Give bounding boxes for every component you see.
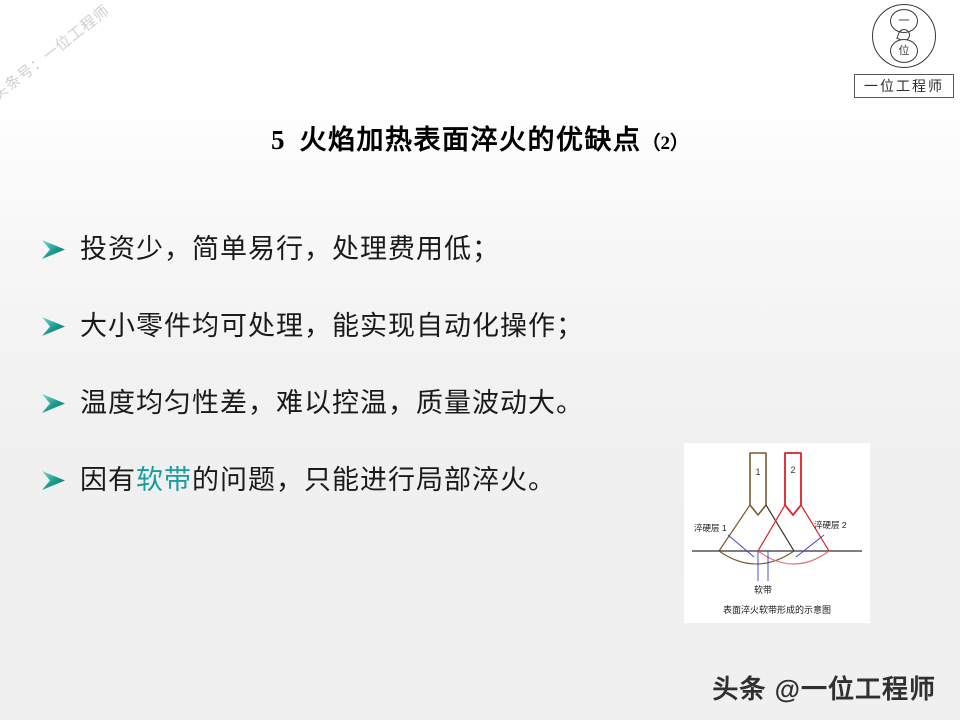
list-item-text-highlight: 软带: [136, 465, 192, 495]
right-hardened-layer-label: 淬硬层 2: [814, 520, 847, 530]
list-item: 大小零件均可处理，能实现自动化操作；: [40, 309, 730, 386]
list-item-text: 因有软带的问题，只能进行局部淬火。: [80, 463, 556, 497]
list-item-text-pre: 温度均匀性差，难以控温，质量波动大。: [80, 388, 584, 418]
logo-inner-bottom-circle-icon: 位: [890, 39, 918, 63]
list-item: 投资少，简单易行，处理费用低；: [40, 232, 730, 309]
list-item-text-pre: 大小零件均可处理，能实现自动化操作；: [80, 311, 584, 341]
soft-band-label: 软带: [754, 584, 772, 595]
list-item-text: 温度均匀性差，难以控温，质量波动大。: [80, 386, 584, 420]
watermark-text: 头条号：一位工程师: [0, 0, 114, 105]
title-sub: （2）: [641, 133, 689, 154]
slide-canvas: 头条号：一位工程师 一 位 一位工程师 5火焰加热表面淬火的优缺点（2）: [0, 0, 960, 720]
title-number: 5: [271, 125, 286, 155]
circular-logo-icon: 一 位: [868, 4, 940, 72]
list-item-text: 投资少，简单易行，处理费用低；: [80, 232, 500, 266]
arrow-bullet-icon: [40, 463, 80, 498]
torch-2-label: 2: [790, 465, 795, 475]
list-item-text-pre: 投资少，简单易行，处理费用低；: [80, 234, 500, 264]
footer-attribution: 头条 @一位工程师: [712, 669, 936, 706]
diagram-caption: 表面淬火软带形成的示意图: [723, 604, 831, 615]
arrow-bullet-icon: [40, 232, 80, 267]
list-item: 温度均匀性差，难以控温，质量波动大。: [40, 386, 730, 463]
diagram-figure: 1 2 淬硬层 1 淬硬层 2: [684, 443, 870, 623]
title-main: 火焰加热表面淬火的优缺点: [299, 125, 641, 155]
arrow-bullet-icon: [40, 309, 80, 344]
page-title: 5火焰加热表面淬火的优缺点（2）: [0, 118, 960, 157]
bullet-list: 投资少，简单易行，处理费用低； 大小零件均可处理，能实现自动化操作； 温度均匀性…: [40, 232, 730, 540]
left-hardened-layer-label: 淬硬层 1: [694, 523, 727, 533]
brand-logo: 一 位 一位工程师: [854, 4, 954, 98]
list-item: 因有软带的问题，只能进行局部淬火。: [40, 463, 730, 540]
list-item-text-pre: 因有: [80, 465, 136, 495]
logo-name-label: 一位工程师: [854, 74, 954, 98]
arrow-bullet-icon: [40, 386, 80, 421]
torch-1-label: 1: [755, 467, 760, 477]
list-item-text-post: 的问题，只能进行局部淬火。: [192, 465, 556, 495]
list-item-text: 大小零件均可处理，能实现自动化操作；: [80, 309, 584, 343]
